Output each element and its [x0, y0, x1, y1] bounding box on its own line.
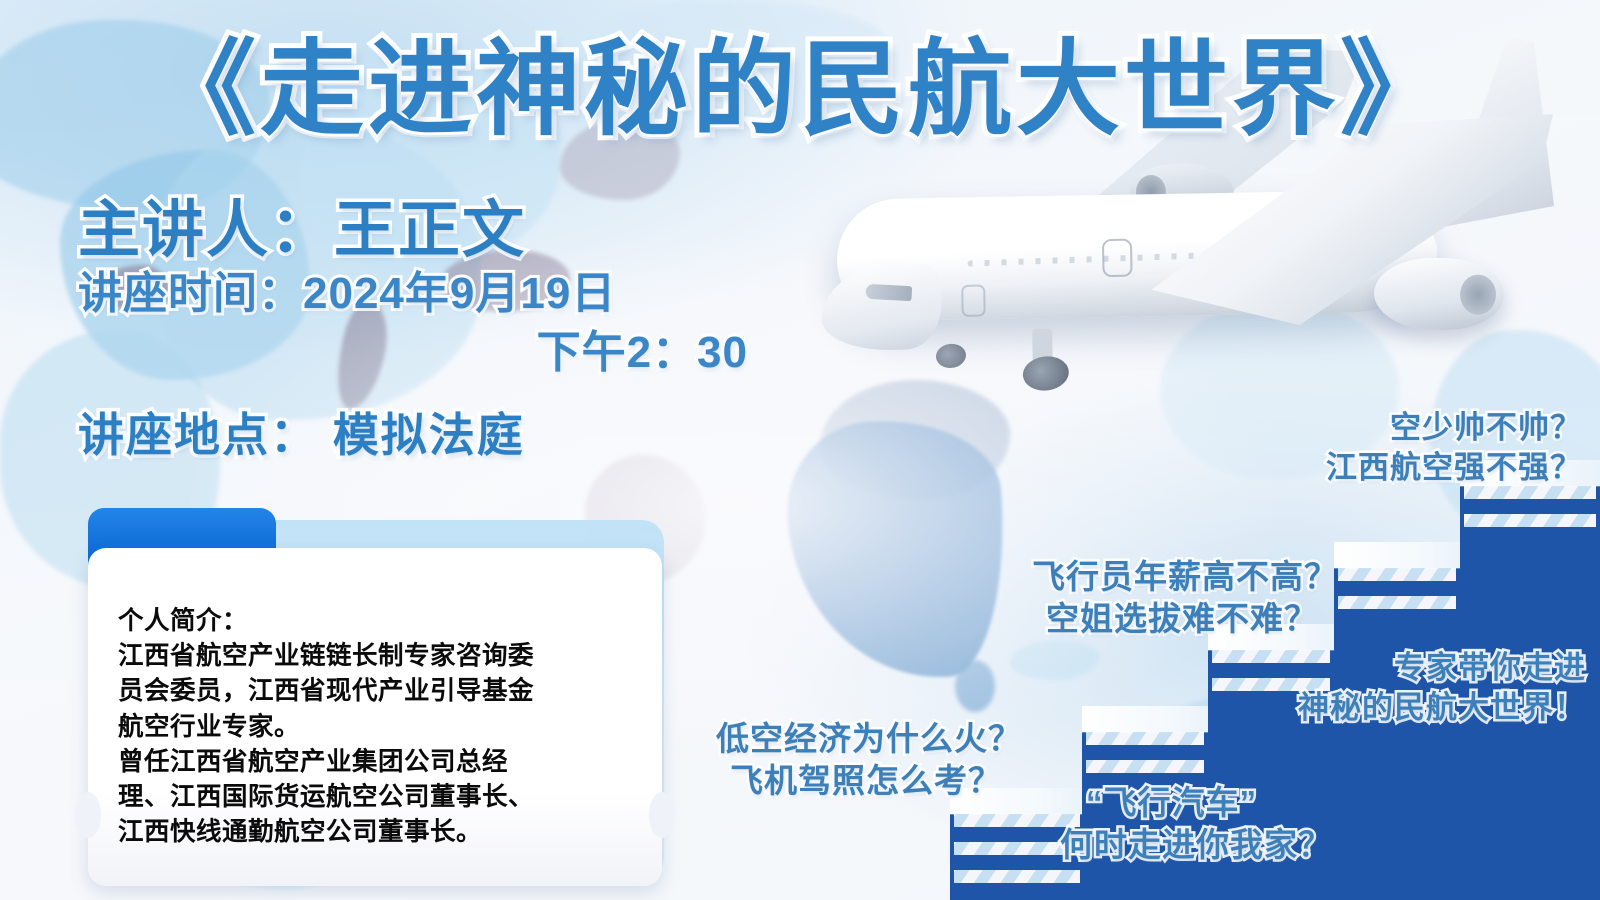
bio-line-1: 江西省航空产业链链长制专家咨询委 — [118, 639, 638, 674]
question-1-line-1: 空少帅不帅？ — [1326, 408, 1582, 448]
bio-card-text: 个人简介： 江西省航空产业链链长制专家咨询委 员会委员，江西省现代产业引导基金 … — [118, 604, 638, 850]
lecture-time-line-1: 讲座时间：2024年9月19日 — [78, 265, 768, 324]
speaker-bio-card: 个人简介： 江西省航空产业链链长制专家咨询委 员会委员，江西省现代产业引导基金 … — [88, 508, 668, 890]
stair-stripe-5 — [1464, 486, 1596, 499]
question-1-line-2: 江西航空强不强？ — [1326, 448, 1582, 488]
bio-heading: 个人简介： — [118, 604, 638, 639]
bio-card-notch-left — [75, 792, 101, 838]
page-title: 《走进神秘的民航大世界》 — [0, 34, 1600, 146]
airplane-engine-near — [1373, 257, 1504, 331]
stair-stripe-2b — [1086, 760, 1204, 773]
question-callout-5: “飞行汽车” 何时走进你我家？ — [1060, 782, 1332, 866]
question-3-line-1: 专家带你走进 — [1298, 648, 1586, 688]
airplane-cockpit-window — [865, 284, 912, 301]
bio-line-6: 江西快线通勤航空公司董事长。 — [118, 815, 638, 850]
question-callout-4: 低空经济为什么火？ 飞机驾照怎么考？ — [716, 718, 1022, 802]
question-callout-2: 飞行员年薪高不高？ 空姐选拔难不难？ — [1032, 556, 1338, 640]
question-2-line-1: 飞行员年薪高不高？ — [1032, 556, 1338, 598]
stair-stripe-5b — [1464, 514, 1596, 527]
stair-stripe-2 — [1086, 732, 1204, 745]
stair-tread-4 — [1334, 542, 1478, 568]
bio-line-3: 航空行业专家。 — [118, 710, 638, 745]
question-callout-1: 空少帅不帅？ 江西航空强不强？ — [1326, 408, 1582, 487]
airplane-door-rear — [961, 285, 986, 317]
stair-stripe-4b — [1338, 596, 1456, 609]
bio-line-5: 理、江西国际货运航空公司董事长、 — [118, 780, 638, 815]
question-2-line-2: 空姐选拔难不难？ — [1032, 598, 1338, 640]
lecture-info-block: 主讲人：王正文 讲座时间：2024年9月19日 下午2：30 讲座地点： 模拟法… — [78, 196, 768, 465]
question-4-line-1: 低空经济为什么火？ — [716, 718, 1022, 760]
stair-stripe-4 — [1338, 568, 1456, 581]
question-3-line-2: 神秘的民航大世界！ — [1298, 688, 1586, 728]
bio-line-4: 曾任江西省航空产业集团公司总经 — [118, 745, 638, 780]
stair-tread-2 — [1082, 706, 1226, 732]
bio-line-2: 员会委员，江西省现代产业引导基金 — [118, 674, 638, 709]
airplane-wheel-nose — [935, 342, 968, 369]
lecture-venue-line: 讲座地点： 模拟法庭 — [78, 399, 768, 465]
engine-intake-icon — [1460, 274, 1497, 315]
question-5-line-2: 何时走进你我家？ — [1060, 824, 1332, 866]
question-4-line-2: 飞机驾照怎么考？ — [716, 760, 1022, 802]
question-callout-3: 专家带你走进 神秘的民航大世界！ — [1298, 648, 1586, 727]
airplane-door-front — [1102, 239, 1133, 278]
bio-card-body: 个人简介： 江西省航空产业链链长制专家咨询委 员会委员，江西省现代产业引导基金 … — [88, 548, 662, 886]
question-5-line-1: “飞行汽车” — [1060, 782, 1332, 824]
airplane-wheel-main — [1021, 354, 1071, 393]
speaker-name-line: 主讲人：王正文 — [78, 196, 768, 265]
bio-card-notch-right — [649, 792, 675, 838]
lecture-time-line-2: 下午2：30 — [78, 324, 768, 383]
stair-stripe-1c — [954, 870, 1080, 883]
poster-root: 《走进神秘的民航大世界》 主讲人：王正文 讲座时间：2024年9月19日 下午2… — [0, 0, 1600, 900]
